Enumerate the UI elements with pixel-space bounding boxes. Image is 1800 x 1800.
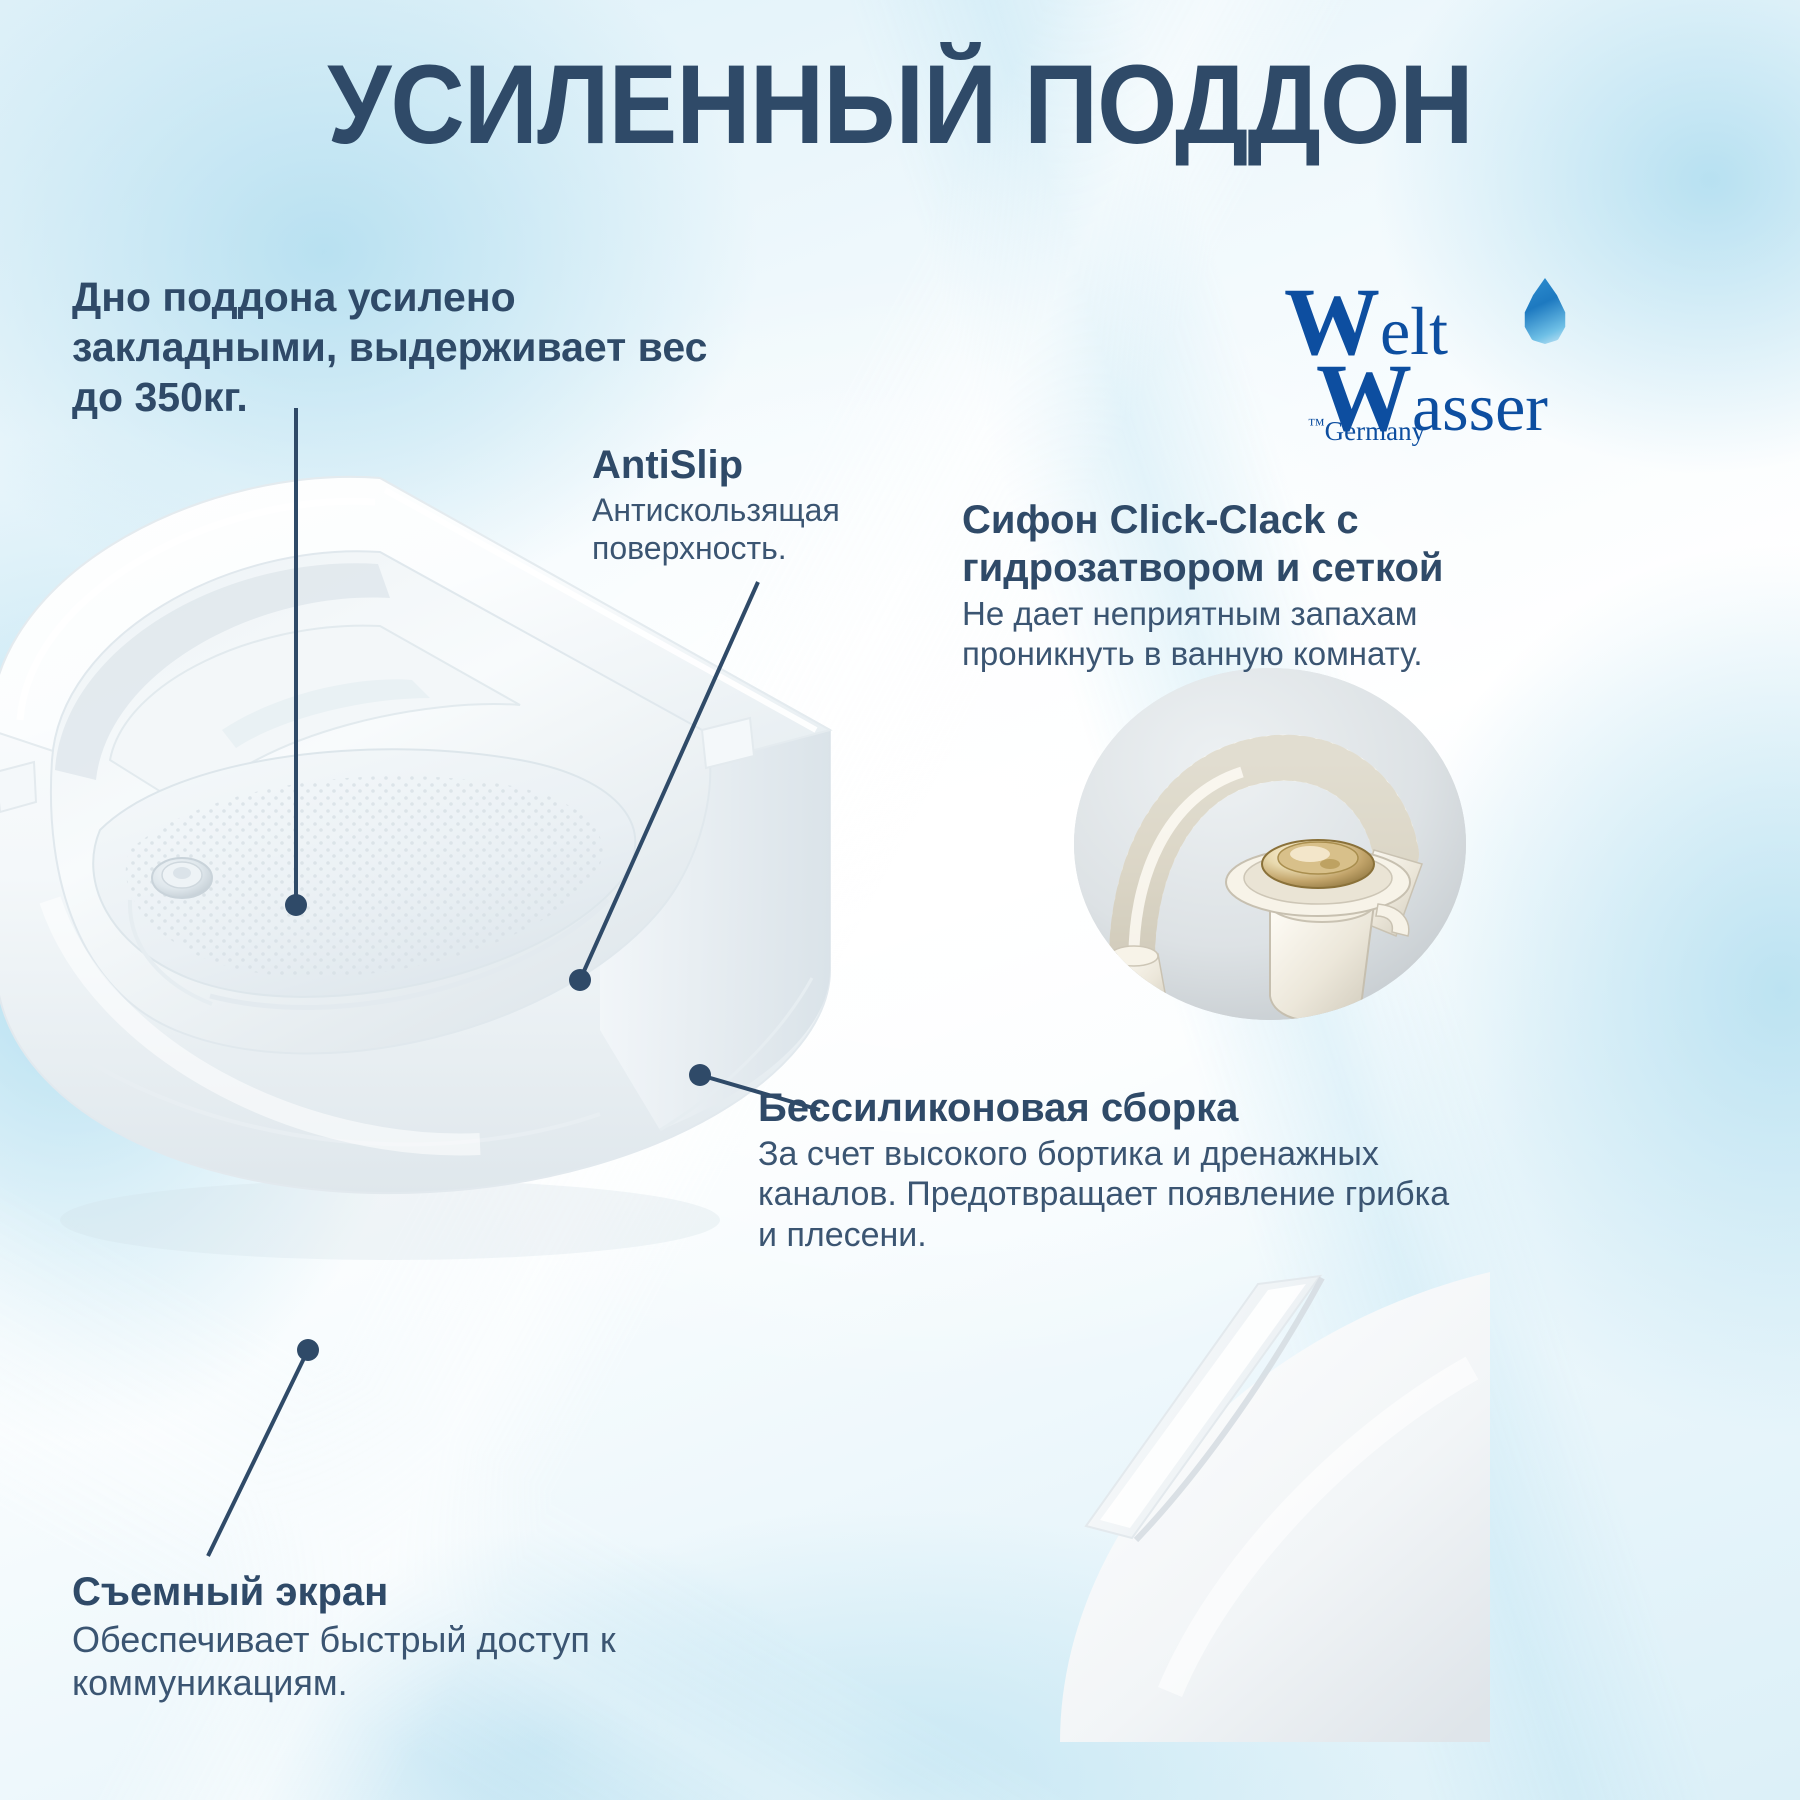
brand-logo: Welt Wasser ™Germany (1280, 278, 1570, 443)
logo-country-label: Germany (1325, 416, 1425, 446)
logo-rest-asser: asser (1412, 369, 1548, 445)
callout-antislip-body: Антискользящая поверхность. (592, 491, 922, 568)
logo-trademark-country: ™Germany (1308, 415, 1425, 447)
trademark-symbol: ™ (1308, 415, 1325, 434)
callout-removable-panel: Съемный экран Обеспечивает быстрый досту… (72, 1570, 712, 1704)
callout-silicone-free: Бессиликоновая сборка За счет высокого б… (758, 1086, 1458, 1256)
callout-antislip-heading: AntiSlip (592, 443, 922, 489)
callout-silicone-heading: Бессиликоновая сборка (758, 1086, 1458, 1132)
callout-panel-heading: Съемный экран (72, 1570, 712, 1616)
callout-reinforced-bottom: Дно поддона усилено закладными, выдержив… (72, 272, 732, 424)
callout-silicone-body: За счет высокого бортика и дренажных кан… (758, 1134, 1458, 1256)
callout-reinforced-heading: Дно поддона усилено закладными, выдержив… (72, 272, 732, 422)
callout-siphon-body: Не дает неприятным запахам проникнуть в … (962, 594, 1532, 673)
callout-panel-body: Обеспечивает быстрый доступ к коммуникац… (72, 1618, 712, 1704)
callout-siphon-heading: Сифон Click-Clack с гидрозатвором и сетк… (962, 496, 1532, 592)
callout-antislip: AntiSlip Антискользящая поверхность. (592, 443, 922, 567)
callout-siphon: Сифон Click-Clack с гидрозатвором и сетк… (962, 496, 1532, 673)
callout-leader-lines (0, 0, 1800, 1800)
